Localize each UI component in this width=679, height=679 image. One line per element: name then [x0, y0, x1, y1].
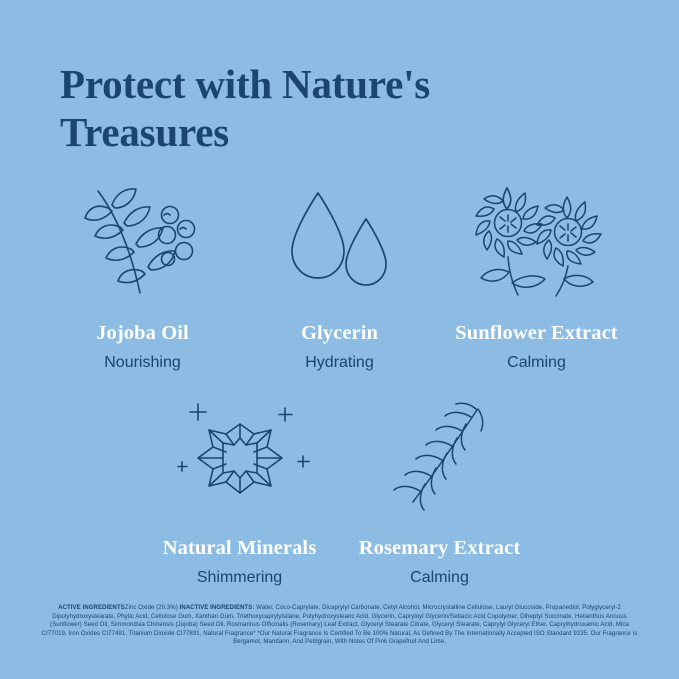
inactive-ingredients-label: INACTIVE INGREDIENTS: [180, 604, 255, 611]
active-ingredients-value: Zinc Oxide (20.3%) [125, 604, 180, 611]
ingredient-name: Rosemary Extract [359, 537, 521, 560]
ingredient-highlight-panel: Protect with Nature's Treasures [0, 0, 679, 679]
active-ingredients-label: ACTIVE INGREDIENTS [58, 604, 125, 611]
ingredient-card-natural-minerals: Natural Minerals Shimmering [140, 390, 340, 587]
ingredient-name: Natural Minerals [163, 537, 317, 560]
ingredient-card-rosemary-extract: Rosemary Extract Calming [340, 390, 540, 587]
ingredient-row-1: Jojoba Oil Nourishing Glycerin Hydrating [0, 175, 679, 372]
ingredient-name: Jojoba Oil [96, 322, 189, 345]
jojoba-branch-icon [58, 175, 228, 310]
ingredient-benefit: Nourishing [104, 354, 180, 372]
fragrance-footnote: *Our Natural Fragrance Is Certified To B… [233, 630, 637, 646]
sunflowers-icon [452, 175, 622, 310]
ingredient-benefit: Calming [410, 569, 469, 587]
ingredient-card-glycerin: Glycerin Hydrating [241, 175, 438, 372]
ingredient-benefit: Hydrating [305, 354, 373, 372]
ingredient-benefit: Shimmering [197, 569, 282, 587]
mineral-crystal-icon [155, 390, 325, 525]
water-droplets-icon [255, 175, 425, 310]
ingredient-disclosure-text: ACTIVE INGREDIENTSZinc Oxide (20.3%) INA… [40, 604, 639, 647]
page-title: Protect with Nature's Treasures [60, 60, 580, 157]
ingredient-name: Glycerin [301, 322, 378, 345]
rosemary-sprig-icon [355, 390, 525, 525]
ingredient-card-jojoba-oil: Jojoba Oil Nourishing [44, 175, 241, 372]
ingredient-name: Sunflower Extract [455, 322, 617, 345]
ingredient-benefit: Calming [507, 354, 566, 372]
ingredient-row-2: Natural Minerals Shimmering [0, 390, 679, 587]
ingredient-card-sunflower-extract: Sunflower Extract Calming [438, 175, 635, 372]
